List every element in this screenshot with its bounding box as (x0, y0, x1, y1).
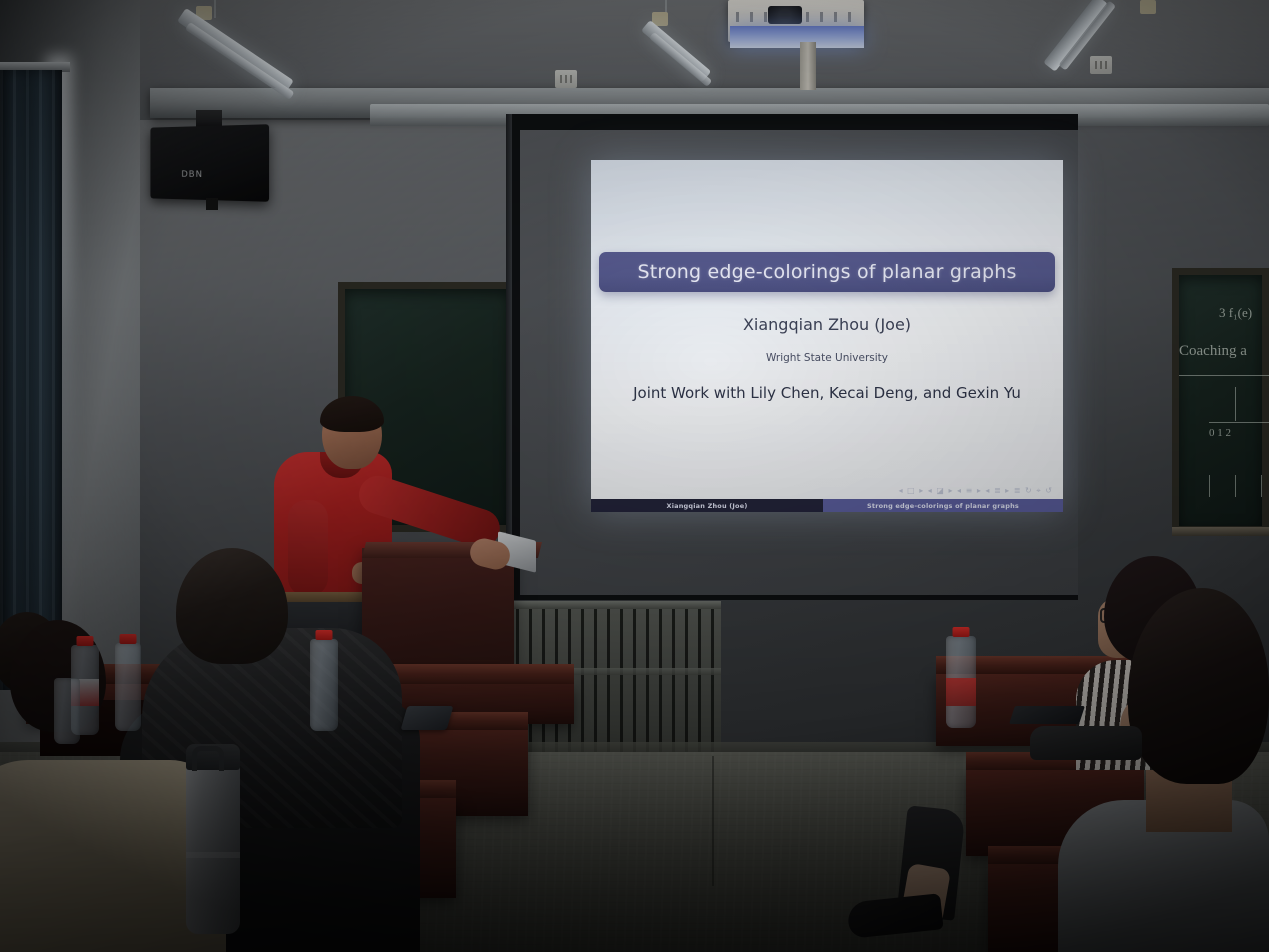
slide-footer-title-text: Strong edge-colorings of planar graphs (867, 502, 1019, 510)
slide-footer: Xiangqian Zhou (Joe) Strong edge-colorin… (591, 499, 1063, 512)
wall-speaker: DBN (150, 124, 269, 202)
lecture-hall-scene: DBN 3 f₁(e) Coaching a 0 1 2 Strong edge… (0, 0, 1269, 952)
blackboard-right: 3 f₁(e) Coaching a 0 1 2 (1172, 268, 1269, 533)
slide-footer-author: Xiangqian Zhou (Joe) (591, 499, 823, 512)
wall-outlet-right[interactable] (1090, 56, 1112, 74)
thermos-handle[interactable] (192, 746, 224, 771)
chalk-tray (1172, 527, 1269, 536)
chalk-bar-3 (1261, 475, 1262, 497)
slide-affiliation: Wright State University (591, 352, 1063, 364)
speaker-stub (206, 198, 218, 210)
wall-outlet-left[interactable] (555, 70, 577, 88)
bottle-cap (77, 636, 94, 646)
chalk-ellipse-stroke (1179, 375, 1269, 376)
projector-light-beam (730, 26, 864, 48)
chalk-bar-2 (1235, 475, 1236, 497)
beamer-navigation-icons[interactable]: ◂ □ ▸ ◂ ◪ ▸ ◂ ≡ ▸ ◂ ≣ ▸ ≣ ↻ ⌖ ↺ (899, 486, 1053, 496)
projector-mount-arm (800, 42, 816, 90)
chalk-tick-1 (1235, 387, 1236, 421)
bottle-body (115, 643, 141, 731)
speaker-logo: DBN (181, 170, 203, 180)
chalk-text-coaching: Coaching a (1179, 343, 1247, 360)
chalk-text-formula: 3 f₁(e) (1219, 305, 1252, 321)
metal-thermos[interactable] (186, 748, 240, 934)
bottle-cap (953, 627, 970, 637)
bottle-label (946, 678, 976, 706)
projected-slide: Strong edge-colorings of planar graphs X… (591, 160, 1063, 512)
light-mount-right (1140, 0, 1156, 14)
water-bottle-4[interactable] (310, 639, 338, 731)
radiator-top-rail (503, 601, 721, 609)
bottle-body (54, 678, 80, 744)
water-bottle-3[interactable] (115, 643, 141, 731)
floor-tile-seam (712, 756, 714, 886)
bottle-cap (120, 634, 137, 644)
chalk-text-numbers: 0 1 2 (1209, 427, 1231, 439)
chalk-axis-line (1209, 422, 1269, 423)
chalk-bar-1 (1209, 475, 1210, 497)
projector-lens-icon (768, 6, 802, 24)
slide-author: Xiangqian Zhou (Joe) (591, 315, 1063, 334)
presenter-left-arm (288, 500, 328, 596)
slide-title-bar: Strong edge-colorings of planar graphs (599, 252, 1055, 292)
window-curtain[interactable] (0, 70, 62, 690)
tablet-on-desk[interactable] (1009, 706, 1085, 724)
slide-joint-work: Joint Work with Lily Chen, Kecai Deng, a… (591, 384, 1063, 402)
smartphone-on-desk[interactable] (401, 706, 454, 730)
slide-footer-author-text: Xiangqian Zhou (Joe) (667, 502, 748, 510)
bottle-body (310, 639, 338, 731)
water-bottle-2[interactable] (54, 678, 80, 744)
light-hanger-rod (214, 0, 216, 18)
water-bottle-5[interactable] (946, 636, 976, 728)
thermos-band (186, 852, 240, 858)
bottle-cap (316, 630, 333, 640)
slide-footer-title: Strong edge-colorings of planar graphs (823, 499, 1063, 512)
slide-title: Strong edge-colorings of planar graphs (637, 261, 1016, 283)
backpack-on-desk (1030, 726, 1142, 760)
